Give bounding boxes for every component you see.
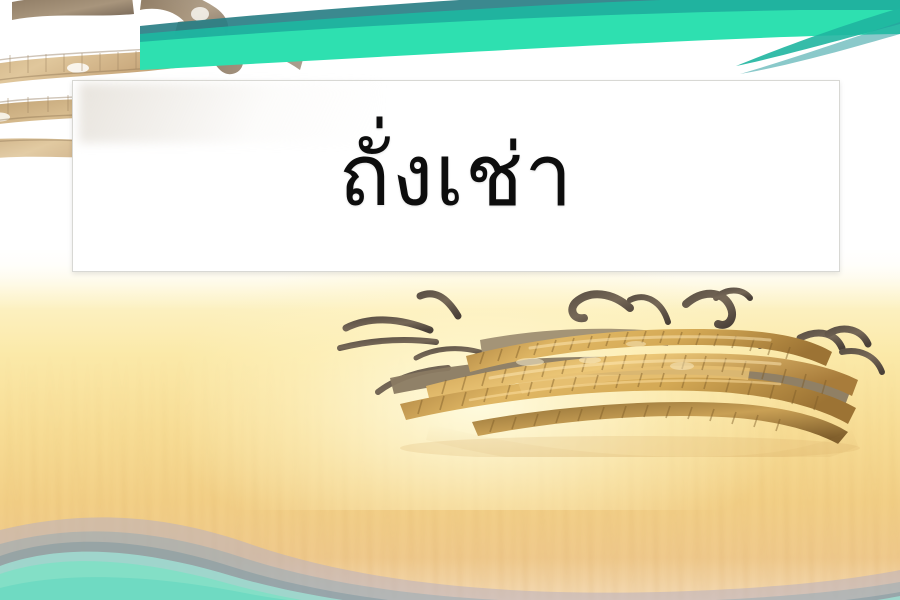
decorative-wave-bottom: [0, 470, 900, 600]
page-title: ถั่งเช่า: [338, 131, 573, 221]
poster-canvas: ถั่งเช่า: [0, 0, 900, 600]
title-card: ถั่งเช่า: [72, 80, 840, 272]
footer-area: THAI HERB บริษัท ผลิตภัณฑ์สมุนไพรไทย จำก…: [0, 450, 900, 600]
title-card-smudge: [79, 83, 379, 143]
cordyceps-photo-center: [330, 282, 896, 457]
